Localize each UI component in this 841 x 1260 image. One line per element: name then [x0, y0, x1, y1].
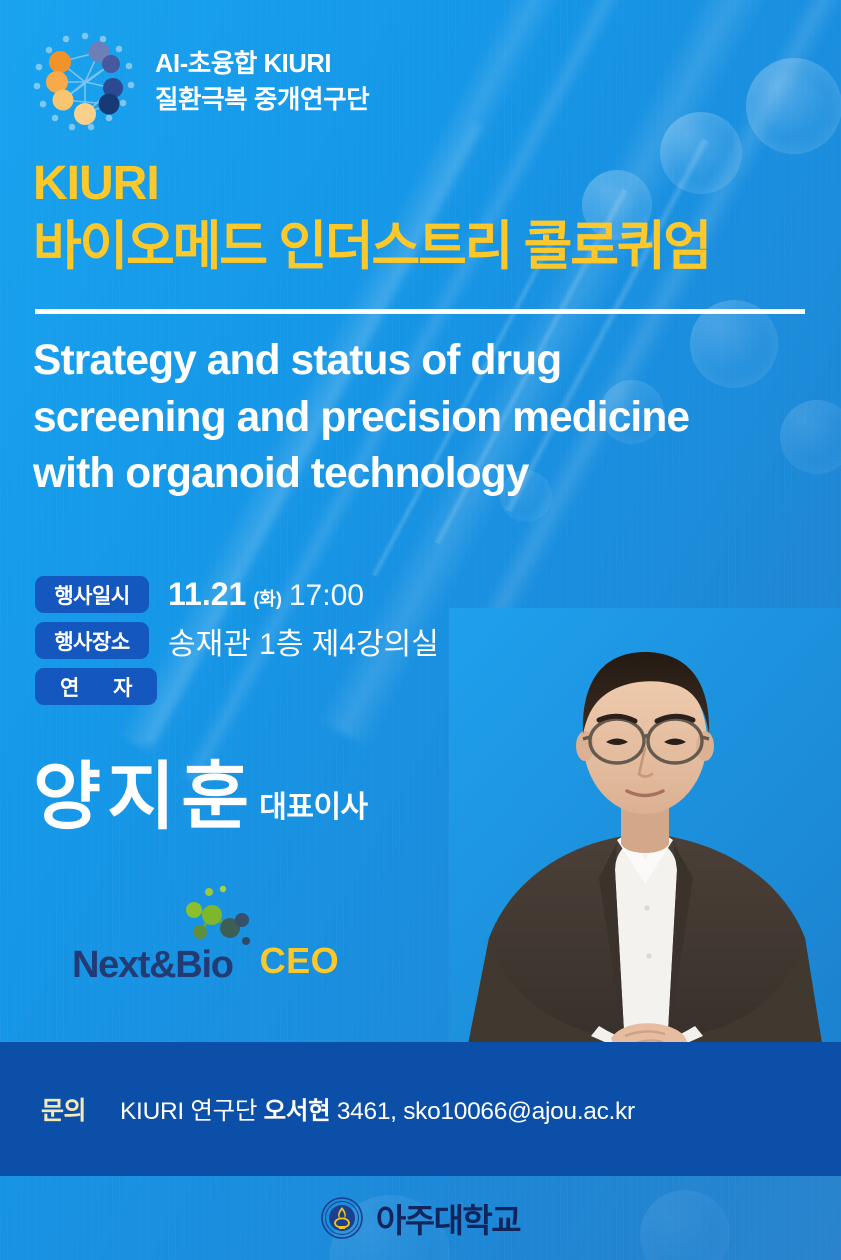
- university-footer: 아주대학교: [0, 1176, 841, 1260]
- title-korean: 바이오메드 인더스트리 콜로퀴엄: [33, 218, 710, 275]
- speaker-row: 연 자: [35, 668, 439, 705]
- event-date-number: 11.21: [168, 576, 246, 613]
- event-day-of-week: (화): [253, 585, 282, 611]
- poster-root: AI-초융합 KIURI 질환극복 중개연구단 KIURI 바이오메드 인더스트…: [0, 0, 841, 1260]
- event-date-value: 11.21 (화) 17:00: [168, 576, 364, 613]
- title-kiuri: KIURI: [33, 160, 159, 208]
- contact-label: 문의: [41, 1091, 86, 1127]
- event-place-value: 송재관 1층 제4강의실: [168, 619, 439, 663]
- speaker-portrait: [449, 608, 841, 1050]
- pipette-bubble: [660, 112, 742, 194]
- event-place-badge: 행사장소: [35, 622, 149, 659]
- company-block: Next&Bio CEO: [72, 886, 339, 987]
- title-english: Strategy and status of drug screening an…: [33, 333, 823, 503]
- contact-comma: ,: [390, 1098, 397, 1125]
- company-logo: Next&Bio: [72, 886, 233, 987]
- title-divider: [35, 309, 805, 314]
- organization-name: AI-초융합 KIURI 질환극복 중개연구단: [155, 46, 369, 118]
- speaker-role: 대표이사: [259, 782, 367, 832]
- event-info: 행사일시 11.21 (화) 17:00 행사장소 송재관 1층 제4강의실 연…: [35, 576, 439, 714]
- pipette-bubble: [746, 58, 841, 154]
- university-name: 아주대학교: [376, 1194, 520, 1242]
- speaker-badge: 연 자: [35, 668, 157, 705]
- contact-details: KIURI 연구단 오서현 3461, sko10066@ajou.ac.kr: [120, 1092, 635, 1127]
- molecule-dots-icon: [178, 884, 256, 950]
- network-nodes-icon: [33, 30, 137, 134]
- speaker-name: 양지훈: [33, 762, 255, 832]
- contact-bar: 문의 KIURI 연구단 오서현 3461, sko10066@ajou.ac.…: [0, 1042, 841, 1176]
- event-place-row: 행사장소 송재관 1층 제4강의실: [35, 622, 439, 659]
- contact-phone: 3461: [337, 1098, 390, 1125]
- ajou-university-seal-icon: [321, 1197, 363, 1239]
- contact-email[interactable]: sko10066@ajou.ac.kr: [403, 1098, 635, 1125]
- contact-org: KIURI 연구단: [120, 1098, 257, 1125]
- event-time: 17:00: [289, 579, 364, 613]
- contact-person: 오서현: [264, 1098, 331, 1125]
- speaker-position: CEO: [260, 940, 340, 987]
- event-date-row: 행사일시 11.21 (화) 17:00: [35, 576, 439, 613]
- poster-header: AI-초융합 KIURI 질환극복 중개연구단: [33, 30, 369, 134]
- company-name: Next&Bio: [72, 944, 233, 987]
- event-date-badge: 행사일시: [35, 576, 149, 613]
- speaker-block: 양지훈 대표이사: [33, 762, 368, 832]
